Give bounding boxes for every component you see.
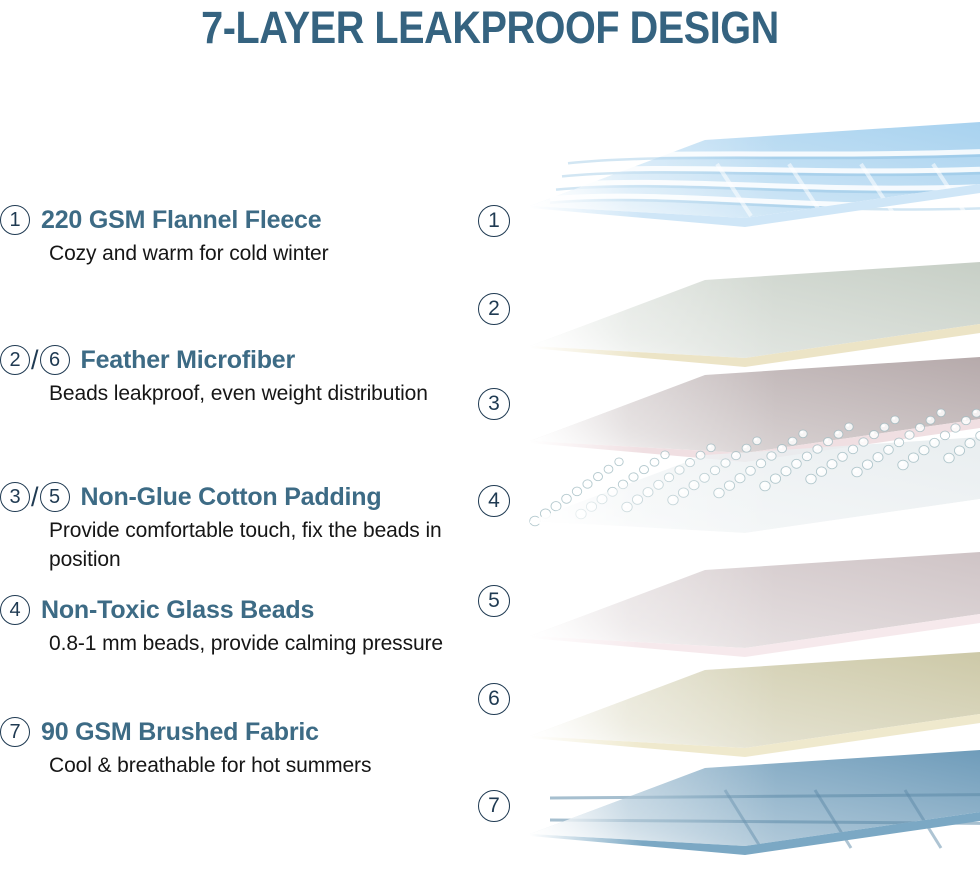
- legend-item-heading: 4Non-Toxic Glass Beads: [0, 595, 465, 625]
- legend-marker-group: 4: [0, 595, 30, 625]
- legend-marker-group: 1: [0, 205, 30, 235]
- legend-item-title: Non-Toxic Glass Beads: [41, 596, 314, 625]
- legend-item-description: Beads leakproof, even weight distributio…: [49, 380, 449, 409]
- layer-sheet-7: [500, 738, 980, 888]
- legend-item-heading: 3/5Non-Glue Cotton Padding: [0, 482, 465, 512]
- circled-number-7: 7: [0, 717, 30, 747]
- legend-item: 2/6Feather MicrofiberBeads leakproof, ev…: [0, 345, 465, 409]
- marker-separator: /: [30, 484, 40, 511]
- layer-number-badge-7: 7: [478, 790, 510, 822]
- layer-number-badge-4: 4: [478, 485, 510, 517]
- legend-marker-group: 7: [0, 717, 30, 747]
- circled-number-4: 4: [0, 595, 30, 625]
- legend-item-description: 0.8-1 mm beads, provide calming pressure: [49, 630, 449, 659]
- legend-item-heading: 790 GSM Brushed Fabric: [0, 717, 465, 747]
- legend-item-heading: 2/6Feather Microfiber: [0, 345, 465, 375]
- circled-number-2: 2: [0, 345, 30, 375]
- legend-item: 4Non-Toxic Glass Beads0.8-1 mm beads, pr…: [0, 595, 465, 659]
- layer-stack-diagram: 1 2: [470, 100, 980, 883]
- legend-item-description: Provide comfortable touch, fix the beads…: [49, 517, 449, 574]
- layer-number-badge-3: 3: [478, 388, 510, 420]
- circled-number-5: 5: [40, 482, 70, 512]
- circled-number-6: 6: [40, 345, 70, 375]
- legend-item-title: Feather Microfiber: [81, 346, 296, 375]
- page-title: 7-LAYER LEAKPROOF DESIGN: [59, 2, 921, 54]
- marker-separator: /: [30, 347, 40, 374]
- circled-number-1: 1: [0, 205, 30, 235]
- legend-item: 790 GSM Brushed FabricCool & breathable …: [0, 717, 465, 781]
- legend-item-description: Cozy and warm for cold winter: [49, 240, 449, 269]
- layer-sheet-1: [500, 110, 980, 260]
- legend-marker-group: 3/5: [0, 482, 70, 512]
- legend-item: 1220 GSM Flannel FleeceCozy and warm for…: [0, 205, 465, 269]
- legend-item-title: Non-Glue Cotton Padding: [81, 483, 382, 512]
- layer-number-badge-2: 2: [478, 293, 510, 325]
- layer-number-badge-1: 1: [478, 205, 510, 237]
- layer-number-badge-5: 5: [478, 585, 510, 617]
- circled-number-3: 3: [0, 482, 30, 512]
- legend-item-heading: 1220 GSM Flannel Fleece: [0, 205, 465, 235]
- legend-marker-group: 2/6: [0, 345, 70, 375]
- legend-item: 3/5Non-Glue Cotton PaddingProvide comfor…: [0, 482, 465, 574]
- legend-item-title: 90 GSM Brushed Fabric: [41, 718, 319, 747]
- legend-list: 1220 GSM Flannel FleeceCozy and warm for…: [0, 205, 465, 805]
- legend-item-title: 220 GSM Flannel Fleece: [41, 206, 321, 235]
- legend-item-description: Cool & breathable for hot summers: [49, 752, 449, 781]
- layer-number-badge-6: 6: [478, 683, 510, 715]
